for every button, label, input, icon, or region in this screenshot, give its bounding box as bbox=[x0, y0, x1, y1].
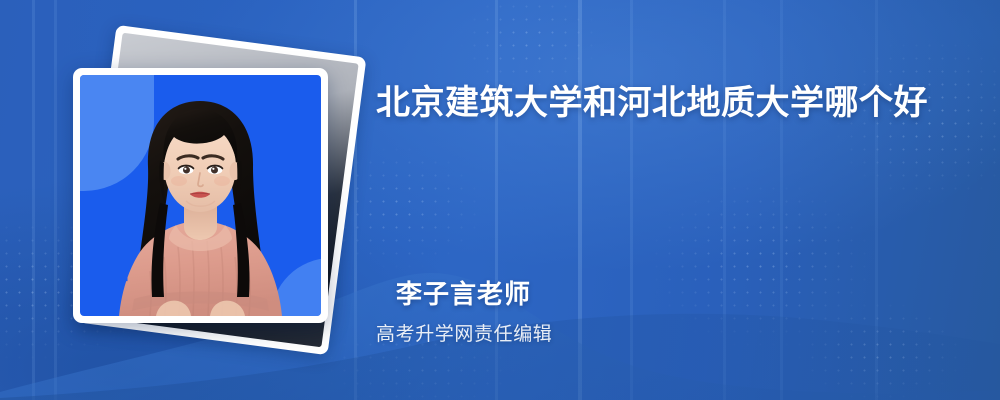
author-role: 高考升学网责任编辑 bbox=[376, 319, 552, 346]
page-title: 北京建筑大学和河北地质大学哪个好 bbox=[376, 74, 956, 132]
banner-text-column: 北京建筑大学和河北地质大学哪个好 李子言老师 高考升学网责任编辑 bbox=[376, 0, 976, 400]
author-portrait-photo bbox=[80, 75, 321, 316]
id-photo-frame bbox=[80, 75, 321, 316]
front-photo-card bbox=[73, 68, 328, 323]
photo-card-stack bbox=[0, 0, 360, 400]
author-name: 李子言老师 bbox=[396, 274, 531, 311]
article-cover-banner: 北京建筑大学和河北地质大学哪个好 李子言老师 高考升学网责任编辑 bbox=[0, 0, 1000, 400]
